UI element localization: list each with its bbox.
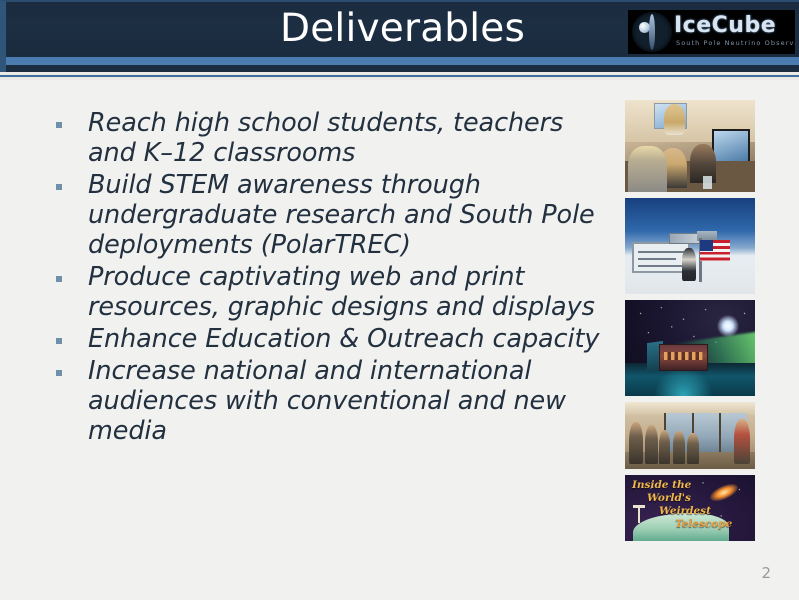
attendee-figure [629,422,643,464]
photo-workshop-presentation [625,402,755,469]
cup-object [703,176,712,189]
bullet-text: Enhance Education & Outreach capacity [88,324,616,354]
bullet-square-icon [56,338,62,344]
attendee-figure [687,433,699,464]
photo-south-pole-flag [625,198,755,294]
icecube-wordmark: IceCube [674,14,776,38]
us-flag-icon [700,240,730,261]
list-item: Increase national and international audi… [56,356,616,446]
student-figure [664,104,685,135]
bullet-text: Reach high school students, teachers and… [88,108,616,168]
photo-classroom-students [625,100,755,192]
photo-strip: Inside the World's Weirdest Telescope [625,100,755,547]
presenter-figure [734,419,750,463]
person-figure [682,248,696,281]
bullet-text: Increase national and international audi… [88,356,616,446]
attendee-figure [659,430,671,464]
photo-icecube-lab-aurora [625,300,755,396]
bullet-text: Produce captivating web and print resour… [88,262,616,322]
list-item: Enhance Education & Outreach capacity [56,324,616,354]
icecube-logo: IceCube South Pole Neutrino Observatory [628,10,795,54]
student-figure [628,146,667,192]
header-underline-gap [0,77,799,80]
attendee-figure [645,425,658,464]
poster-mast-icon [638,507,640,523]
photo-weirdest-telescope-poster: Inside the World's Weirdest Telescope [625,475,755,541]
icecube-globe-icon [632,12,672,52]
ice-glow [654,367,714,396]
bullet-square-icon [56,370,62,376]
header-inner: Deliverables IceCube South Pole Neutrino… [6,2,799,57]
icecube-tagline: South Pole Neutrino Observatory [676,39,795,47]
page-number: 2 [761,564,771,582]
list-item: Build STEM awareness through undergradua… [56,170,616,260]
slide-header: Deliverables IceCube South Pole Neutrino… [0,0,799,57]
bullet-square-icon [56,276,62,282]
header-accent-band [0,57,799,65]
icecube-lab-building [659,344,708,371]
header-dark-band [0,65,799,72]
bullet-square-icon [56,122,62,128]
list-item: Produce captivating web and print resour… [56,262,616,322]
bullet-square-icon [56,184,62,190]
computer-monitor [712,129,750,162]
attendee-figure [673,431,685,463]
bullet-text: Build STEM awareness through undergradua… [88,170,616,260]
bullet-list: Reach high school students, teachers and… [56,108,616,448]
list-item: Reach high school students, teachers and… [56,108,616,168]
